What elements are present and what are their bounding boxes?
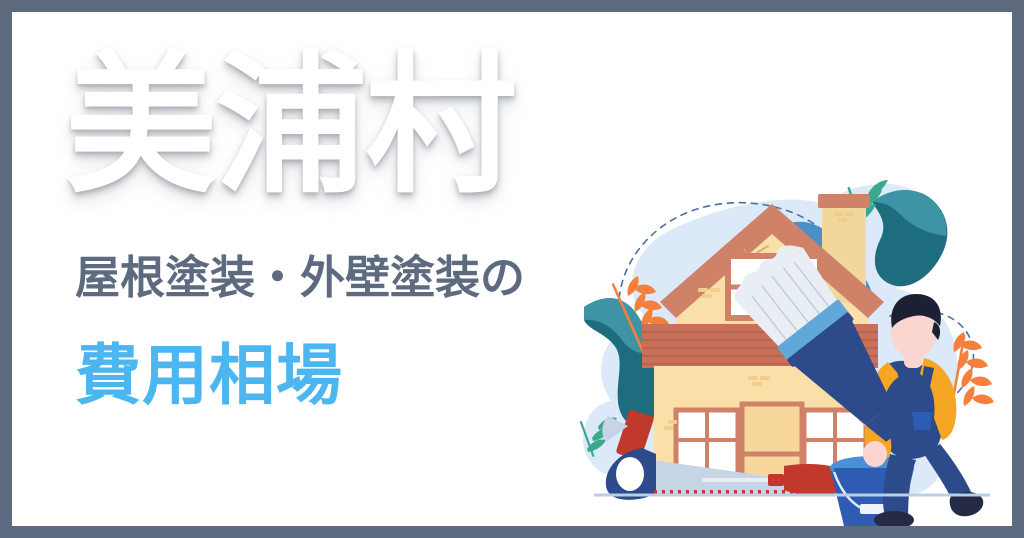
subtitle: 屋根塗装・外壁塗装の: [75, 255, 525, 300]
headline: 費用相場: [75, 342, 343, 408]
text-block: 美浦村 屋根塗装・外壁塗装の 費用相場: [65, 12, 665, 526]
page-title: 美浦村: [65, 50, 515, 202]
banner-canvas: 美浦村 屋根塗装・外壁塗装の 費用相場: [12, 12, 1012, 526]
chimney-cap: [818, 194, 870, 208]
banner: 美浦村 屋根塗装・外壁塗装の 費用相場: [0, 0, 1024, 538]
painter-hand: [863, 441, 887, 467]
